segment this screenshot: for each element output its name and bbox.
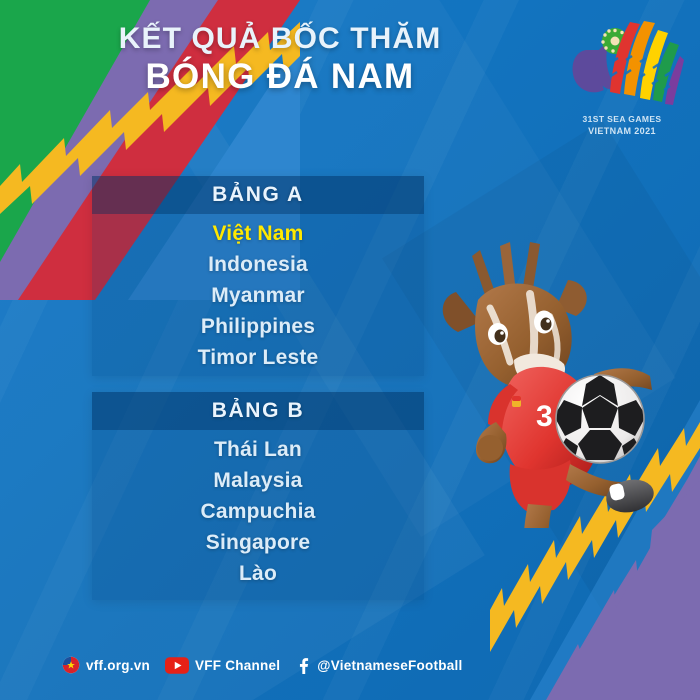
footer-entry-facebook[interactable]: @VietnameseFootball	[295, 657, 462, 674]
footer-entry-youtube[interactable]: VFF Channel	[165, 657, 280, 674]
youtube-icon	[165, 657, 189, 674]
group-b-team-3: Singapore	[92, 527, 424, 558]
group-a-team-4: Timor Leste	[92, 342, 424, 373]
footer-label-youtube: VFF Channel	[195, 658, 280, 673]
group-b-team-4: Lào	[92, 558, 424, 589]
group-panel-b: BẢNG B Thái Lan Malaysia Campuchia Singa…	[92, 392, 424, 600]
group-b-header: BẢNG B	[92, 392, 424, 430]
group-a-team-list: Việt Nam Indonesia Myanmar Philippines T…	[92, 214, 424, 373]
footer-bar: vff.org.vn VFF Channel @VietnameseFootba…	[62, 656, 462, 674]
group-a-header: BẢNG A	[92, 176, 424, 214]
mascot-jersey-number: 3	[536, 400, 553, 433]
group-a-team-2: Myanmar	[92, 280, 424, 311]
logo-caption-line-2: VIETNAM 2021	[560, 126, 684, 137]
vff-logo-icon	[62, 656, 80, 674]
group-panel-a: BẢNG A Việt Nam Indonesia Myanmar Philip…	[92, 176, 424, 376]
group-b-header-label: BẢNG B	[212, 399, 304, 423]
sea-games-logo-mark	[560, 16, 684, 112]
group-a-team-0: Việt Nam	[92, 218, 424, 249]
facebook-icon	[295, 657, 311, 674]
footer-label-facebook: @VietnameseFootball	[317, 658, 462, 673]
group-b-team-1: Malaysia	[92, 465, 424, 496]
page-title-line-2: BÓNG ĐÁ NAM	[0, 56, 560, 97]
sao-la-mascot: 3	[418, 238, 658, 528]
group-b-team-0: Thái Lan	[92, 434, 424, 465]
group-b-team-2: Campuchia	[92, 496, 424, 527]
logo-caption-line-1: 31ST SEA GAMES	[560, 114, 684, 125]
sea-games-logo: 31ST SEA GAMES VIETNAM 2021	[560, 16, 684, 156]
group-a-team-3: Philippines	[92, 311, 424, 342]
group-a-team-1: Indonesia	[92, 249, 424, 280]
page-header: KẾT QUẢ BỐC THĂM BÓNG ĐÁ NAM	[0, 22, 560, 97]
poster-canvas: KẾT QUẢ BỐC THĂM BÓNG ĐÁ NAM	[0, 0, 700, 700]
page-title-line-1: KẾT QUẢ BỐC THĂM	[0, 22, 560, 56]
footer-label-website: vff.org.vn	[86, 658, 150, 673]
group-b-team-list: Thái Lan Malaysia Campuchia Singapore Là…	[92, 430, 424, 589]
group-a-header-label: BẢNG A	[212, 183, 304, 207]
footer-entry-website[interactable]: vff.org.vn	[62, 656, 150, 674]
